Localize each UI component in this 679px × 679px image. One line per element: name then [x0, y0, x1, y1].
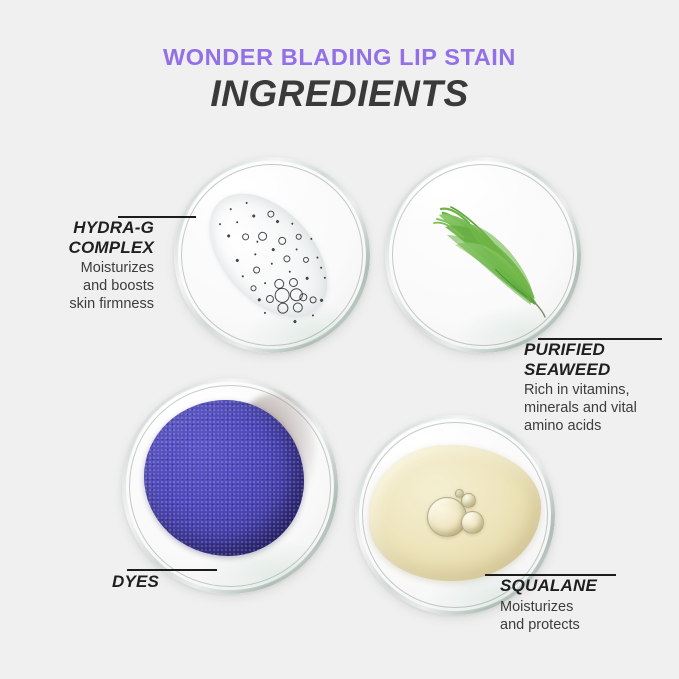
ingredient-title: SQUALANE — [500, 576, 650, 596]
ingredient-title: DYES — [112, 572, 232, 592]
callout-purified-seaweed: PURIFIED SEAWEED Rich in vitamins, miner… — [524, 340, 664, 436]
blue-dye-powder-content — [144, 400, 304, 556]
callout-squalane: SQUALANE Moisturizes and protects — [500, 576, 650, 635]
petri-dish-hydra-g-complex — [174, 157, 370, 353]
page-title: INGREDIENTS — [0, 73, 679, 115]
squalane-oil-content — [369, 445, 541, 581]
ingredient-title: HYDRA-G COMPLEX — [18, 218, 154, 257]
brand-heading: WONDER BLADING LIP STAIN — [0, 44, 679, 71]
leader-line-dyes — [127, 569, 217, 571]
ingredient-description: Moisturizes and protects — [500, 599, 650, 635]
ingredients-infographic: WONDER BLADING LIP STAIN INGREDIENTS — [0, 0, 679, 679]
ingredient-description: Moisturizes and boosts skin firmness — [18, 260, 154, 314]
callout-hydra-g-complex: HYDRA-G COMPLEX Moisturizes and boosts s… — [18, 218, 154, 314]
seaweed-illustration — [385, 157, 581, 353]
ingredient-description: Rich in vitamins, minerals and vital ami… — [524, 382, 664, 436]
gel-blob-content — [180, 167, 355, 342]
callout-dyes: DYES — [112, 572, 232, 592]
petri-dish-dyes — [122, 378, 338, 594]
petri-dish-purified-seaweed — [385, 157, 581, 353]
ingredient-title: PURIFIED SEAWEED — [524, 340, 664, 379]
